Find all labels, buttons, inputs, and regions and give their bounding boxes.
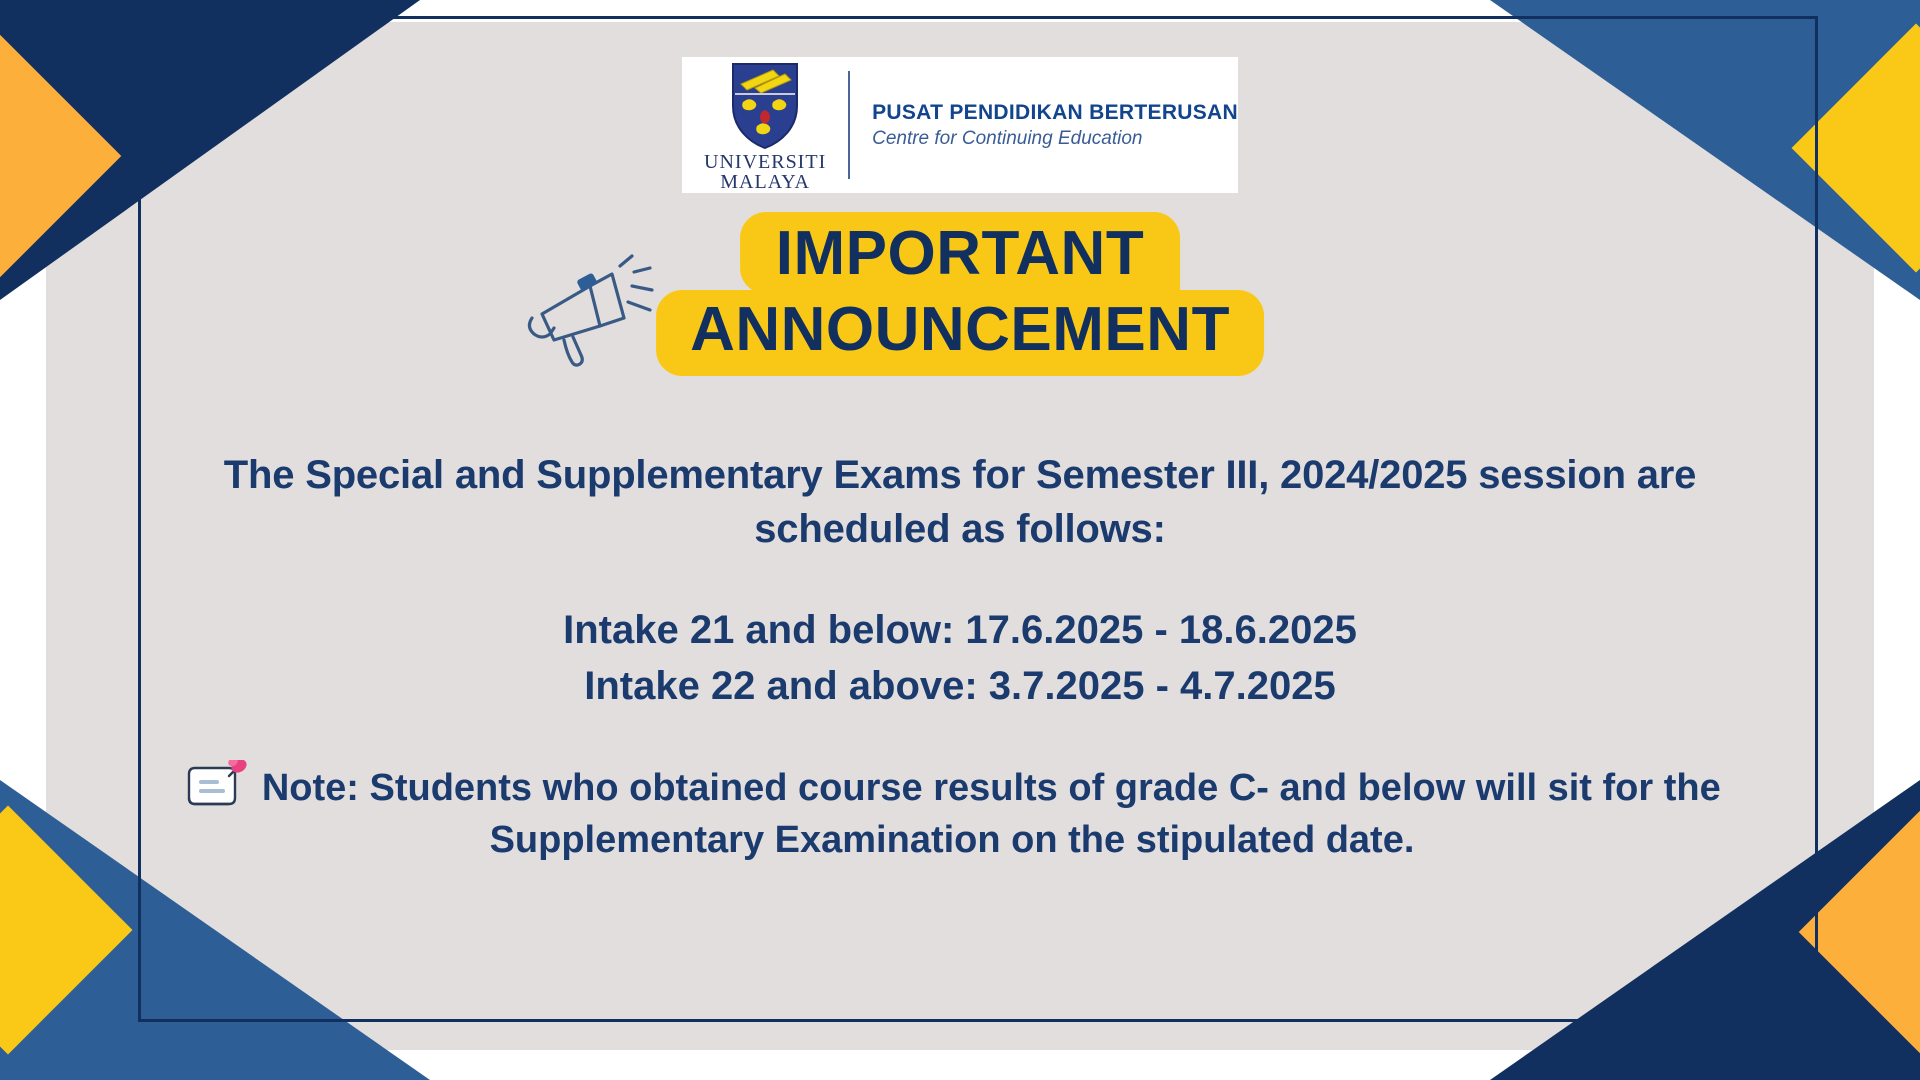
paragraph-spacer	[70, 556, 1850, 602]
schedule-line-1: Intake 21 and below: 17.6.2025 - 18.6.20…	[70, 602, 1850, 658]
crest-wrapper: UNIVERSITI MALAYA	[682, 58, 848, 192]
note-line-2: Supplementary Examination on the stipula…	[44, 814, 1860, 866]
centre-name-malay: PUSAT PENDIDIKAN BERTERUSAN	[872, 101, 1238, 125]
university-name-line2: MALAYA	[704, 172, 826, 192]
universiti-malaya-crest-icon	[729, 62, 801, 150]
note-block: Note: Students who obtained course resul…	[44, 760, 1860, 866]
announcement-poster: UNIVERSITI MALAYA PUSAT PENDIDIKAN BERTE…	[0, 0, 1920, 1080]
centre-name-english: Centre for Continuing Education	[872, 128, 1238, 150]
announcement-body: The Special and Supplementary Exams for …	[70, 448, 1850, 714]
intro-line-2: scheduled as follows:	[70, 502, 1850, 556]
schedule-line-2: Intake 22 and above: 3.7.2025 - 4.7.2025	[70, 658, 1850, 714]
logo-header: UNIVERSITI MALAYA PUSAT PENDIDIKAN BERTE…	[682, 57, 1238, 193]
logo-divider	[848, 71, 850, 179]
pinned-note-icon	[183, 760, 247, 812]
banner-line-2: ANNOUNCEMENT	[656, 290, 1264, 376]
university-name-line1: UNIVERSITI	[704, 152, 826, 172]
banner-line-1: IMPORTANT	[740, 212, 1180, 294]
announcement-banner: IMPORTANT ANNOUNCEMENT	[656, 212, 1264, 376]
intro-line-1: The Special and Supplementary Exams for …	[70, 448, 1850, 502]
centre-name: PUSAT PENDIDIKAN BERTERUSAN Centre for C…	[850, 101, 1238, 150]
megaphone-icon	[520, 252, 670, 372]
note-line-1: Note: Students who obtained course resul…	[262, 767, 1721, 809]
university-name: UNIVERSITI MALAYA	[704, 152, 826, 192]
banner-zone: IMPORTANT ANNOUNCEMENT	[0, 212, 1920, 362]
